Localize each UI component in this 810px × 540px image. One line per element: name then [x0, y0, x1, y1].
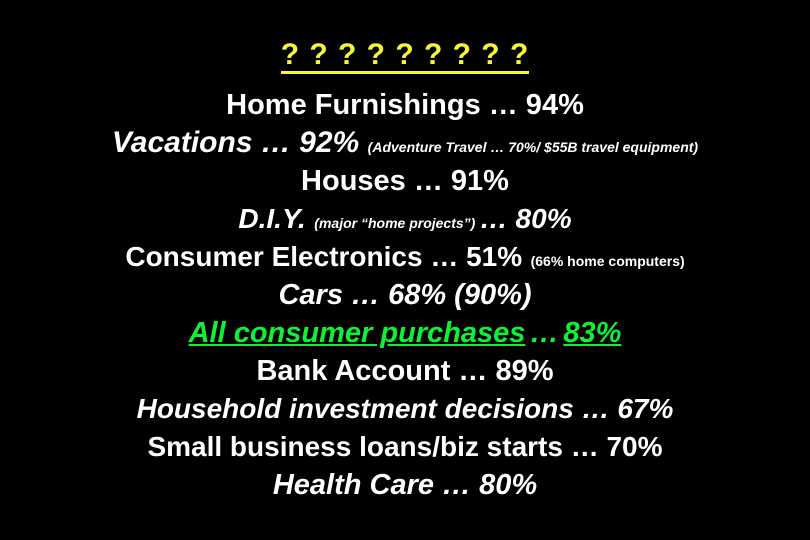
list-item-health-care: Health Care … 80% — [0, 466, 810, 504]
stat-value-diy: … 80% — [480, 203, 572, 234]
stat-label-small-business-loans: Small business loans/biz starts … 70% — [147, 431, 662, 462]
stat-note-vacations: (Adventure Travel … 70%/ $55B travel equ… — [364, 139, 698, 155]
list-item-cars: Cars … 68% (90%) — [0, 276, 810, 314]
stat-label-cars: Cars … 68% (90%) — [278, 279, 531, 311]
list-item-bank-account: Bank Account … 89% — [0, 352, 810, 390]
stat-label-houses: Houses … 91% — [301, 165, 509, 197]
stat-label-diy: D.I.Y. — [238, 203, 305, 234]
list-item-all-consumer-purchases: All consumer purchases … 83% — [0, 314, 810, 352]
list-item-diy: D.I.Y. (major “home projects”) … 80% — [0, 200, 810, 238]
stat-label-health-care: Health Care … 80% — [273, 469, 537, 501]
list-item-houses: Houses … 91% — [0, 162, 810, 200]
stat-label-consumer-electronics: Consumer Electronics … 51% — [125, 241, 522, 272]
list-item-small-business-loans: Small business loans/biz starts … 70% — [0, 428, 810, 466]
list-item-home-furnishings: Home Furnishings … 94% — [0, 86, 810, 124]
stat-label-bank-account: Bank Account … 89% — [256, 355, 553, 387]
stat-label-home-furnishings: Home Furnishings … 94% — [226, 89, 584, 121]
slide-title-row: ? ? ? ? ? ? ? ? ? — [0, 40, 810, 76]
statistics-list: Home Furnishings … 94% Vacations … 92% (… — [0, 86, 810, 504]
stat-note-diy: (major “home projects”) — [310, 215, 475, 231]
stat-label-vacations: Vacations … 92% — [112, 126, 359, 159]
stat-note-consumer-electronics: (66% home computers) — [527, 253, 685, 269]
stat-label-all-consumer-purchases: All consumer purchases — [189, 317, 526, 349]
stat-separator-all-consumer-purchases: … — [530, 317, 559, 349]
list-item-vacations: Vacations … 92% (Adventure Travel … 70%/… — [0, 124, 810, 162]
slide-canvas: ? ? ? ? ? ? ? ? ? Home Furnishings … 94%… — [0, 0, 810, 540]
page-title: ? ? ? ? ? ? ? ? ? — [281, 40, 530, 74]
list-item-household-investment: Household investment decisions … 67% — [0, 390, 810, 428]
list-item-consumer-electronics: Consumer Electronics … 51% (66% home com… — [0, 238, 810, 276]
stat-value-all-consumer-purchases: 83% — [563, 317, 621, 349]
stat-label-household-investment: Household investment decisions … 67% — [137, 393, 674, 424]
